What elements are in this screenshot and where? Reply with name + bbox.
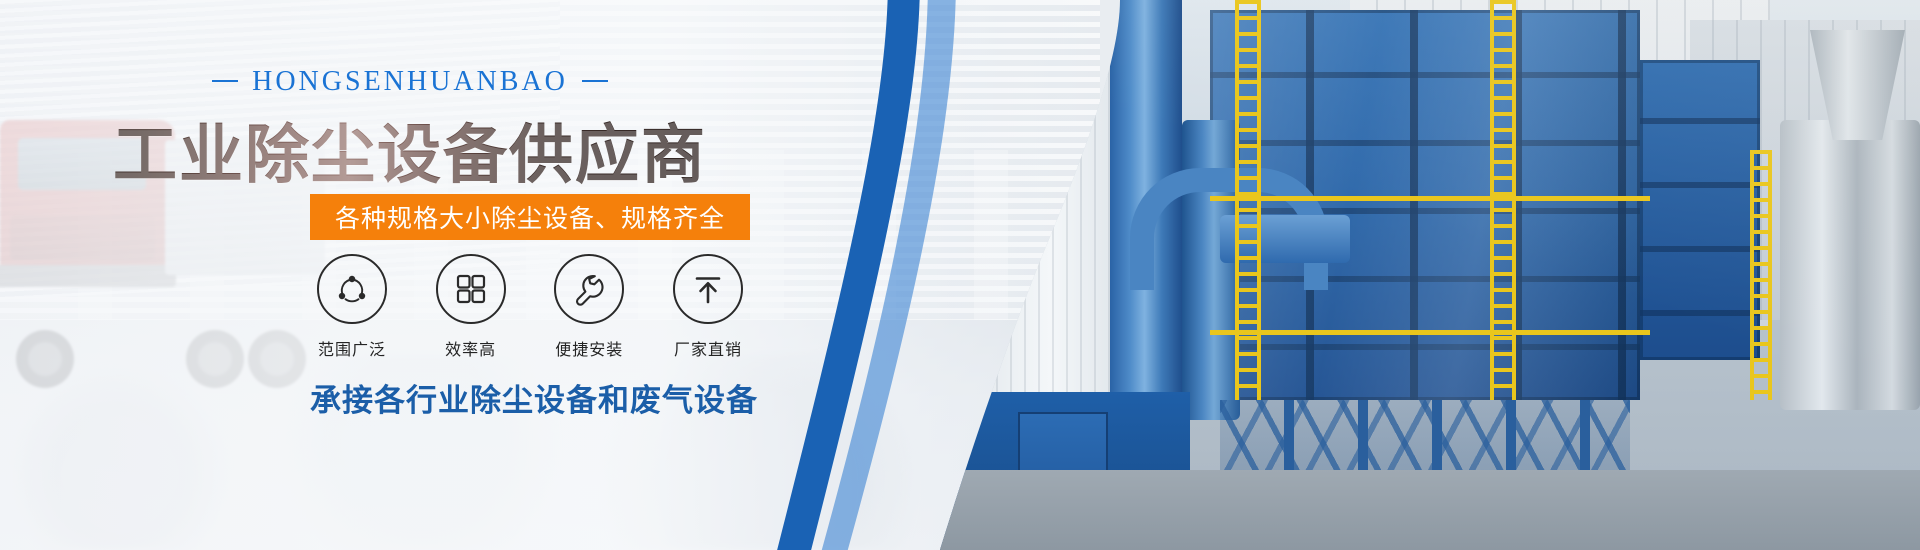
feature-label: 厂家直销 <box>674 336 742 360</box>
feature-list: 范围广泛 效率高 <box>310 254 750 360</box>
eyebrow-dash-right <box>582 80 608 82</box>
feature-item-installation[interactable]: 便捷安装 <box>547 254 631 360</box>
eyebrow-text: HONGSENHUANBAO <box>252 66 568 97</box>
eyebrow-dash-left <box>212 80 238 82</box>
wrench-icon <box>554 254 624 324</box>
hero-banner: HONGSENHUANBAO 工业除尘设备供应商 各种规格大小除尘设备、规格齐全 <box>0 0 1920 550</box>
tagline: 承接各行业除尘设备和废气设备 <box>310 375 750 420</box>
page-title: 工业除尘设备供应商 <box>0 104 820 196</box>
feature-label: 便捷安装 <box>555 336 623 360</box>
upload-arrow-icon <box>673 254 743 324</box>
brand-eyebrow: HONGSENHUANBAO <box>0 66 820 98</box>
feature-item-range[interactable]: 范围广泛 <box>310 254 394 360</box>
feature-item-efficiency[interactable]: 效率高 <box>429 254 513 360</box>
orange-subtitle-text: 各种规格大小除尘设备、规格齐全 <box>335 199 725 235</box>
banner-content: HONGSENHUANBAO 工业除尘设备供应商 各种规格大小除尘设备、规格齐全 <box>0 0 820 550</box>
orange-subtitle-bar: 各种规格大小除尘设备、规格齐全 <box>310 194 750 240</box>
share-nodes-icon <box>317 254 387 324</box>
feature-label: 效率高 <box>445 336 496 360</box>
feature-label: 范围广泛 <box>318 336 386 360</box>
grid-four-squares-icon <box>436 254 506 324</box>
feature-item-direct-sales[interactable]: 厂家直销 <box>666 254 750 360</box>
